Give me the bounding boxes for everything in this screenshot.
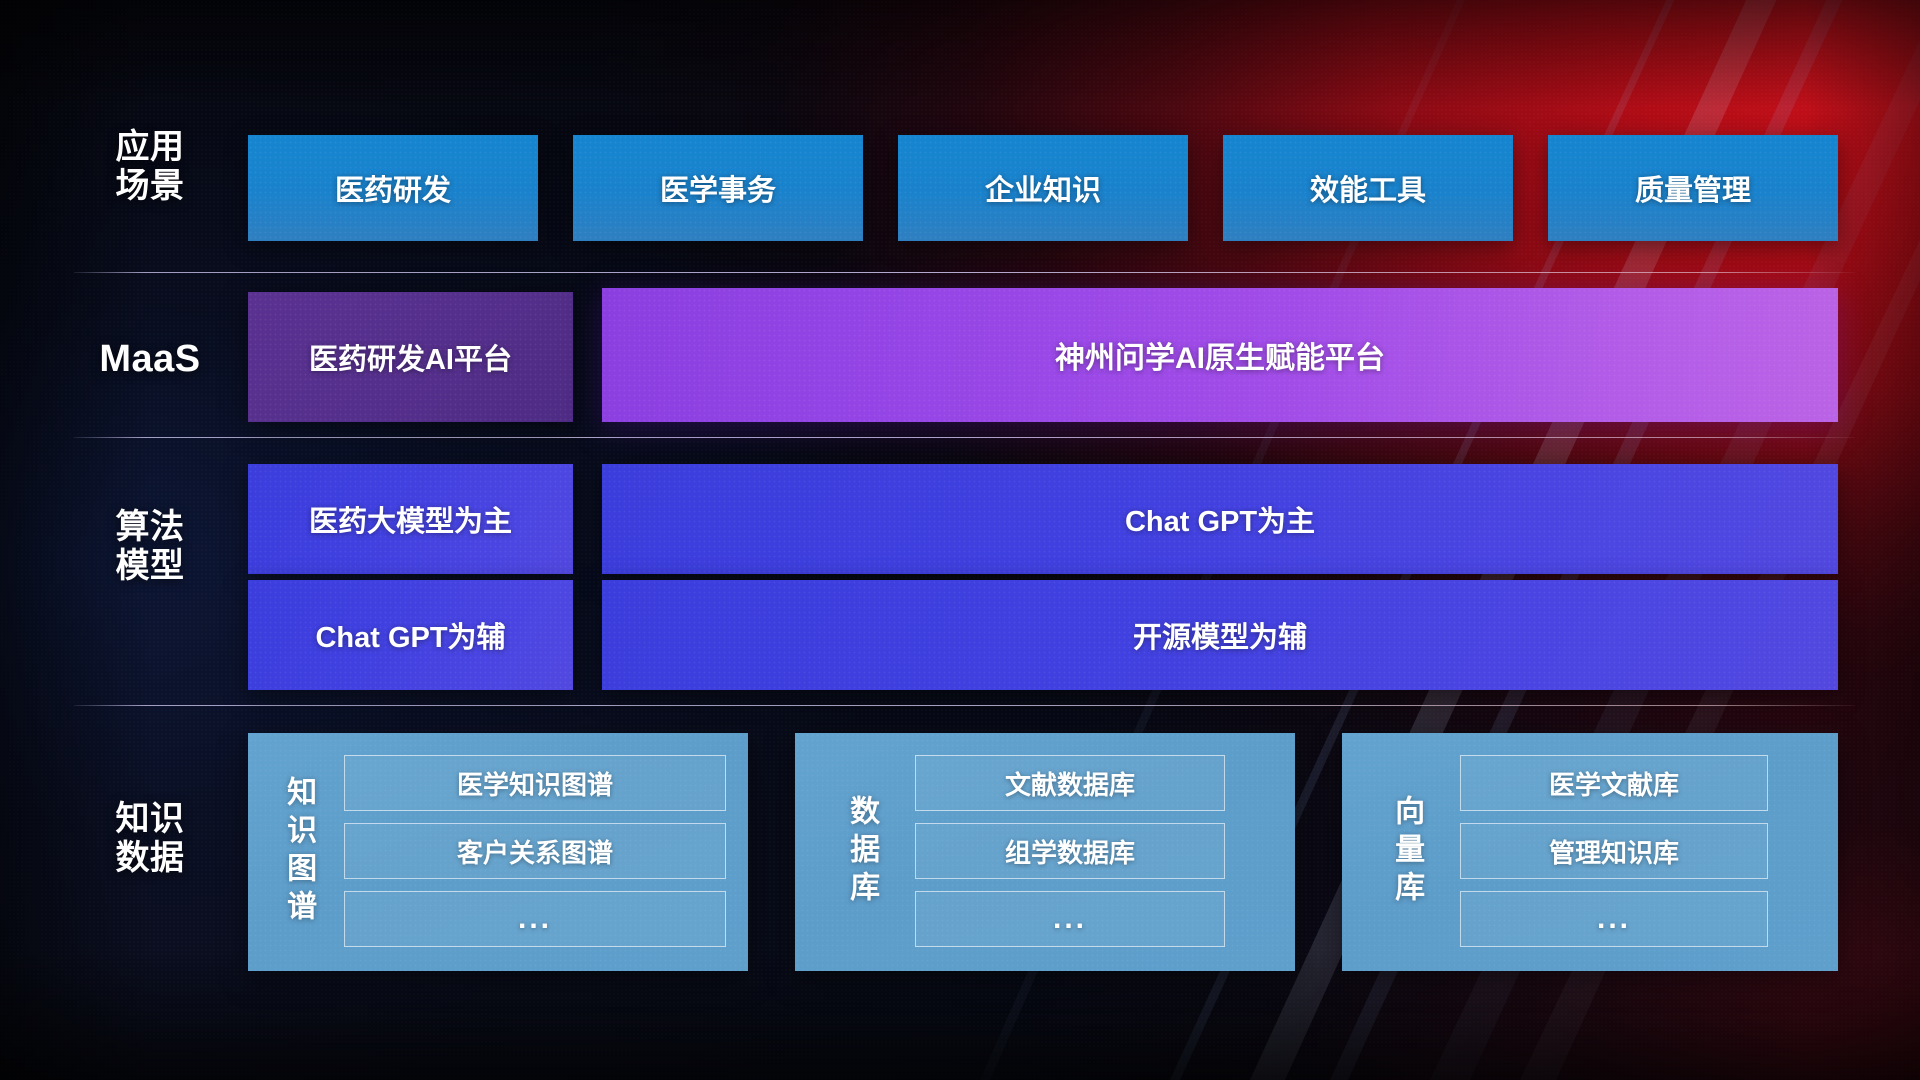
knowledge-panel-vertical-label: 向量库: [1380, 771, 1432, 933]
row-label-maas: MaaS: [74, 337, 226, 381]
vertical-label-text: 数据库: [841, 795, 881, 909]
algo-card-chatgpt-secondary[interactable]: Chat GPT为辅: [248, 580, 573, 690]
app-card-label: 质量管理: [1635, 167, 1751, 209]
divider-maas-algorithm: [74, 437, 1855, 438]
knowledge-item[interactable]: 组学数据库: [915, 823, 1225, 879]
diagram-canvas: 应用 场景 医药研发 医学事务 企业知识 效能工具 质量管理 MaaS 医药研发…: [0, 0, 1920, 1080]
app-card-medical-rnd[interactable]: 医药研发: [248, 135, 538, 241]
row-label-application: 应用 场景: [74, 128, 226, 207]
algo-card-label: Chat GPT为辅: [315, 614, 505, 656]
knowledge-panel-knowledge-graph[interactable]: 知识图谱 医学知识图谱 客户关系图谱 ...: [248, 733, 748, 971]
app-card-label: 企业知识: [985, 167, 1101, 209]
app-card-enterprise-knowledge[interactable]: 企业知识: [898, 135, 1188, 241]
algo-card-label: 医药大模型为主: [309, 498, 512, 540]
app-card-efficiency-tools[interactable]: 效能工具: [1223, 135, 1513, 241]
app-card-medical-affairs[interactable]: 医学事务: [573, 135, 863, 241]
knowledge-item[interactable]: 管理知识库: [1460, 823, 1768, 879]
algo-card-open-source-secondary[interactable]: 开源模型为辅: [602, 580, 1838, 690]
knowledge-panel-item-list: 医学文献库 管理知识库 ...: [1460, 755, 1768, 949]
maas-right-label: 神州问学AI原生赋能平台: [1055, 333, 1385, 377]
knowledge-panel-database[interactable]: 数据库 文献数据库 组学数据库 ...: [795, 733, 1295, 971]
knowledge-panel-vector-database[interactable]: 向量库 医学文献库 管理知识库 ...: [1342, 733, 1838, 971]
algo-card-label: 开源模型为辅: [1133, 614, 1307, 656]
knowledge-panel-vertical-label: 数据库: [835, 771, 887, 933]
maas-card-medical-rnd-ai-platform[interactable]: 医药研发AI平台: [248, 292, 573, 422]
algo-card-label: Chat GPT为主: [1125, 498, 1315, 540]
knowledge-item[interactable]: 医学知识图谱: [344, 755, 726, 811]
maas-left-label: 医药研发AI平台: [309, 336, 512, 378]
knowledge-panel-item-list: 文献数据库 组学数据库 ...: [915, 755, 1225, 949]
knowledge-item-more[interactable]: ...: [1460, 891, 1768, 947]
knowledge-item[interactable]: 客户关系图谱: [344, 823, 726, 879]
knowledge-item[interactable]: 医学文献库: [1460, 755, 1768, 811]
knowledge-panel-vertical-label: 知识图谱: [272, 757, 324, 947]
divider-algorithm-knowledge: [74, 705, 1855, 706]
algo-card-chatgpt-primary[interactable]: Chat GPT为主: [602, 464, 1838, 574]
row-label-knowledge: 知识 数据: [74, 800, 226, 879]
app-card-label: 医学事务: [660, 167, 776, 209]
vertical-label-text: 向量库: [1386, 795, 1426, 909]
knowledge-panel-item-list: 医学知识图谱 客户关系图谱 ...: [344, 755, 726, 949]
algo-card-medical-large-model-primary[interactable]: 医药大模型为主: [248, 464, 573, 574]
knowledge-item[interactable]: 文献数据库: [915, 755, 1225, 811]
knowledge-item-more[interactable]: ...: [344, 891, 726, 947]
app-card-label: 效能工具: [1310, 167, 1426, 209]
maas-card-shenzhou-wenxue-platform[interactable]: 神州问学AI原生赋能平台: [602, 288, 1838, 422]
row-label-algorithm: 算法 模型: [74, 508, 226, 587]
app-card-label: 医药研发: [335, 167, 451, 209]
knowledge-item-more[interactable]: ...: [915, 891, 1225, 947]
vertical-label-text: 知识图谱: [278, 776, 318, 928]
app-card-quality-management[interactable]: 质量管理: [1548, 135, 1838, 241]
divider-application-maas: [74, 272, 1855, 273]
